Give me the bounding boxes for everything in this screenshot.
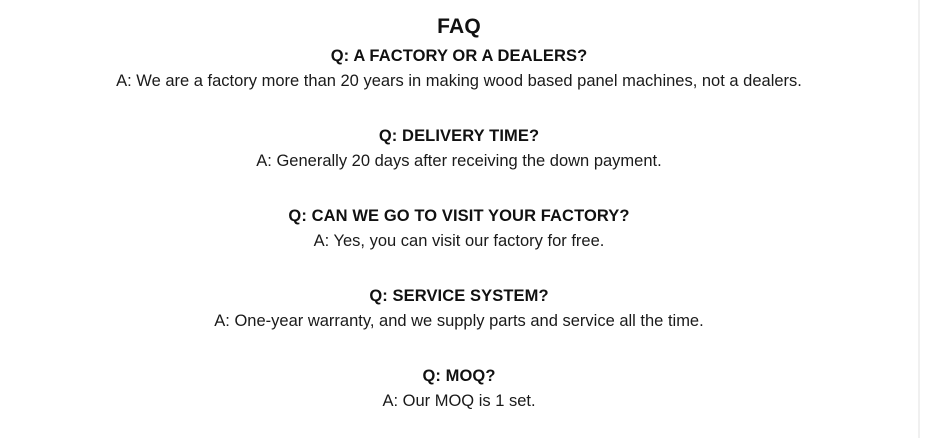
faq-item: Q: A FACTORY OR A DEALERS? A: We are a f… bbox=[0, 44, 918, 94]
faq-answer: A: Yes, you can visit our factory for fr… bbox=[0, 229, 918, 254]
faq-question: Q: SERVICE SYSTEM? bbox=[0, 284, 918, 309]
faq-answer: A: Generally 20 days after receiving the… bbox=[0, 149, 918, 174]
faq-question: Q: DELIVERY TIME? bbox=[0, 124, 918, 149]
faq-item: Q: SERVICE SYSTEM? A: One-year warranty,… bbox=[0, 284, 918, 334]
faq-item: Q: DELIVERY TIME? A: Generally 20 days a… bbox=[0, 124, 918, 174]
faq-page: FAQ Q: A FACTORY OR A DEALERS? A: We are… bbox=[0, 0, 918, 438]
faq-answer: A: One-year warranty, and we supply part… bbox=[0, 309, 918, 334]
faq-item: Q: MOQ? A: Our MOQ is 1 set. bbox=[0, 364, 918, 414]
faq-answer: A: Our MOQ is 1 set. bbox=[0, 389, 918, 414]
faq-answer: A: We are a factory more than 20 years i… bbox=[0, 69, 918, 94]
faq-item: Q: CAN WE GO TO VISIT YOUR FACTORY? A: Y… bbox=[0, 204, 918, 254]
faq-question: Q: A FACTORY OR A DEALERS? bbox=[0, 44, 918, 69]
page-edge-line bbox=[918, 0, 920, 438]
faq-question: Q: MOQ? bbox=[0, 364, 918, 389]
faq-question: Q: CAN WE GO TO VISIT YOUR FACTORY? bbox=[0, 204, 918, 229]
page-title: FAQ bbox=[0, 14, 918, 40]
